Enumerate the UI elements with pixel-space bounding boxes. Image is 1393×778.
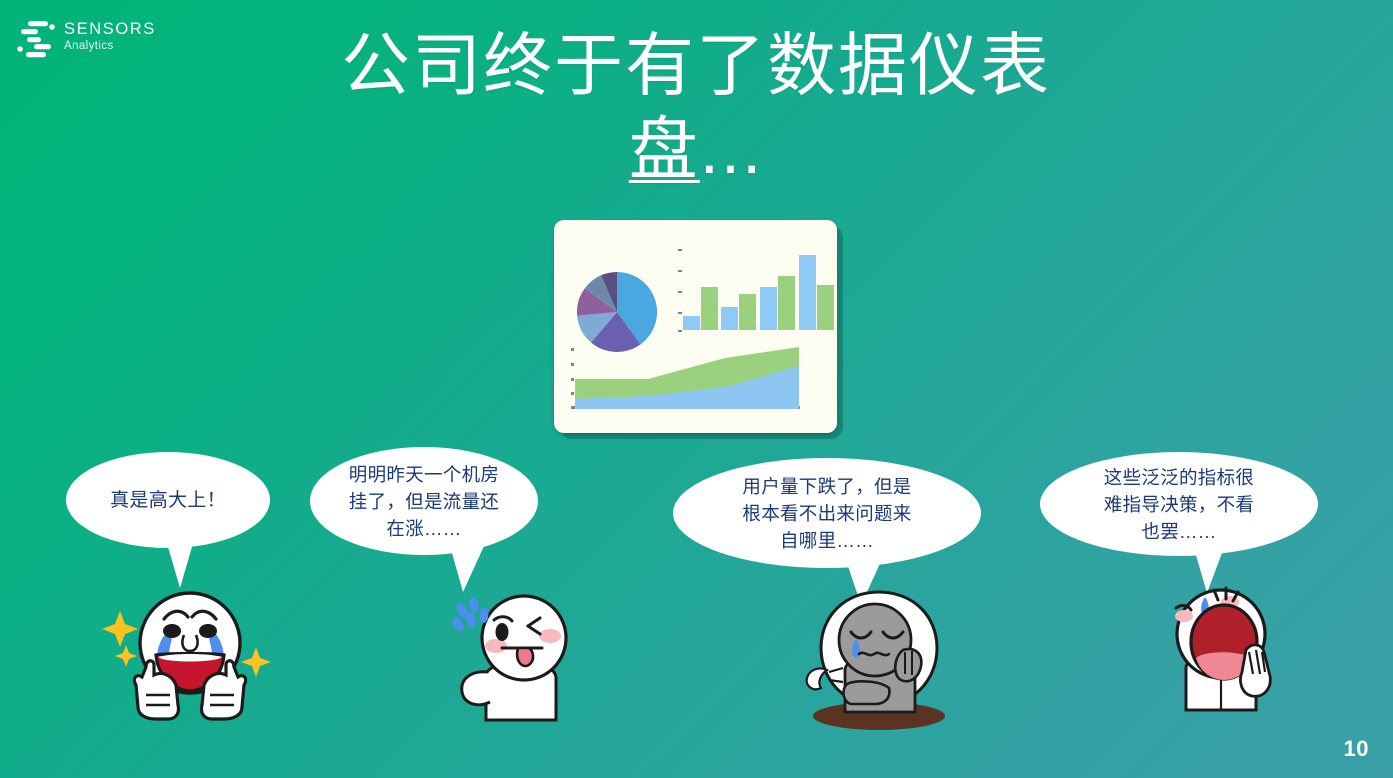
bar-green-1: [701, 287, 718, 330]
bar-blue-4: [799, 255, 816, 330]
bar-chart: [678, 249, 834, 332]
slide-canvas: SENSORS Analytics 公司终于有了数据仪表 盘...: [0, 0, 1393, 778]
winking-tongue-out-sweating-character: [440, 588, 600, 723]
yawning-bored-character: [1148, 586, 1303, 712]
area-chart: [571, 347, 800, 409]
speech-bubble-3-text: 用户量下跌了，但是 根本看不出来问题来 自哪里……: [720, 473, 933, 554]
pie-chart: [577, 272, 657, 352]
page-number: 10: [1344, 736, 1369, 762]
logo-wordmark: SENSORS Analytics: [64, 20, 156, 53]
speech-bubble-3: 用户量下跌了，但是 根本看不出来问题来 自哪里……: [673, 458, 981, 568]
sensors-logo-mark: [14, 16, 60, 62]
data-dashboard-illustration: [554, 220, 837, 433]
title-ellipsis: ...: [700, 111, 764, 188]
bar-green-3: [778, 276, 795, 330]
bar-green-2: [739, 294, 756, 330]
dashboard-charts-svg: [554, 220, 837, 433]
speech-bubble-4-text: 这些泛泛的指标很 难指导决策，不看 也罢……: [1082, 464, 1276, 545]
sad-crying-stone-character: [793, 588, 965, 730]
sensors-analytics-logo: SENSORS Analytics: [14, 14, 204, 66]
speech-bubble-2: 明明昨天一个机房 挂了，但是流量还 在涨……: [310, 447, 538, 555]
speech-bubble-4: 这些泛泛的指标很 难指导决策，不看 也罢……: [1040, 452, 1318, 556]
crying-happy-thumbs-up-character: [96, 583, 284, 723]
speech-bubble-1-text: 真是高大上！: [88, 487, 248, 514]
bar-blue-2: [721, 307, 738, 330]
page-title: 公司终于有了数据仪表 盘...: [296, 24, 1096, 192]
logo-word-sensors: SENSORS: [64, 20, 156, 39]
bar-blue-3: [760, 287, 777, 330]
dashboard-card: [554, 220, 837, 433]
speech-bubble-2-text: 明明昨天一个机房 挂了，但是流量还 在涨……: [327, 461, 521, 542]
title-line-1: 公司终于有了数据仪表: [341, 27, 1051, 104]
logo-word-analytics: Analytics: [64, 39, 156, 53]
bar-blue-1: [683, 316, 700, 330]
title-line-2-underlined: 盘: [629, 111, 700, 188]
bar-green-4: [817, 285, 834, 330]
speech-bubble-1: 真是高大上！: [66, 452, 270, 548]
